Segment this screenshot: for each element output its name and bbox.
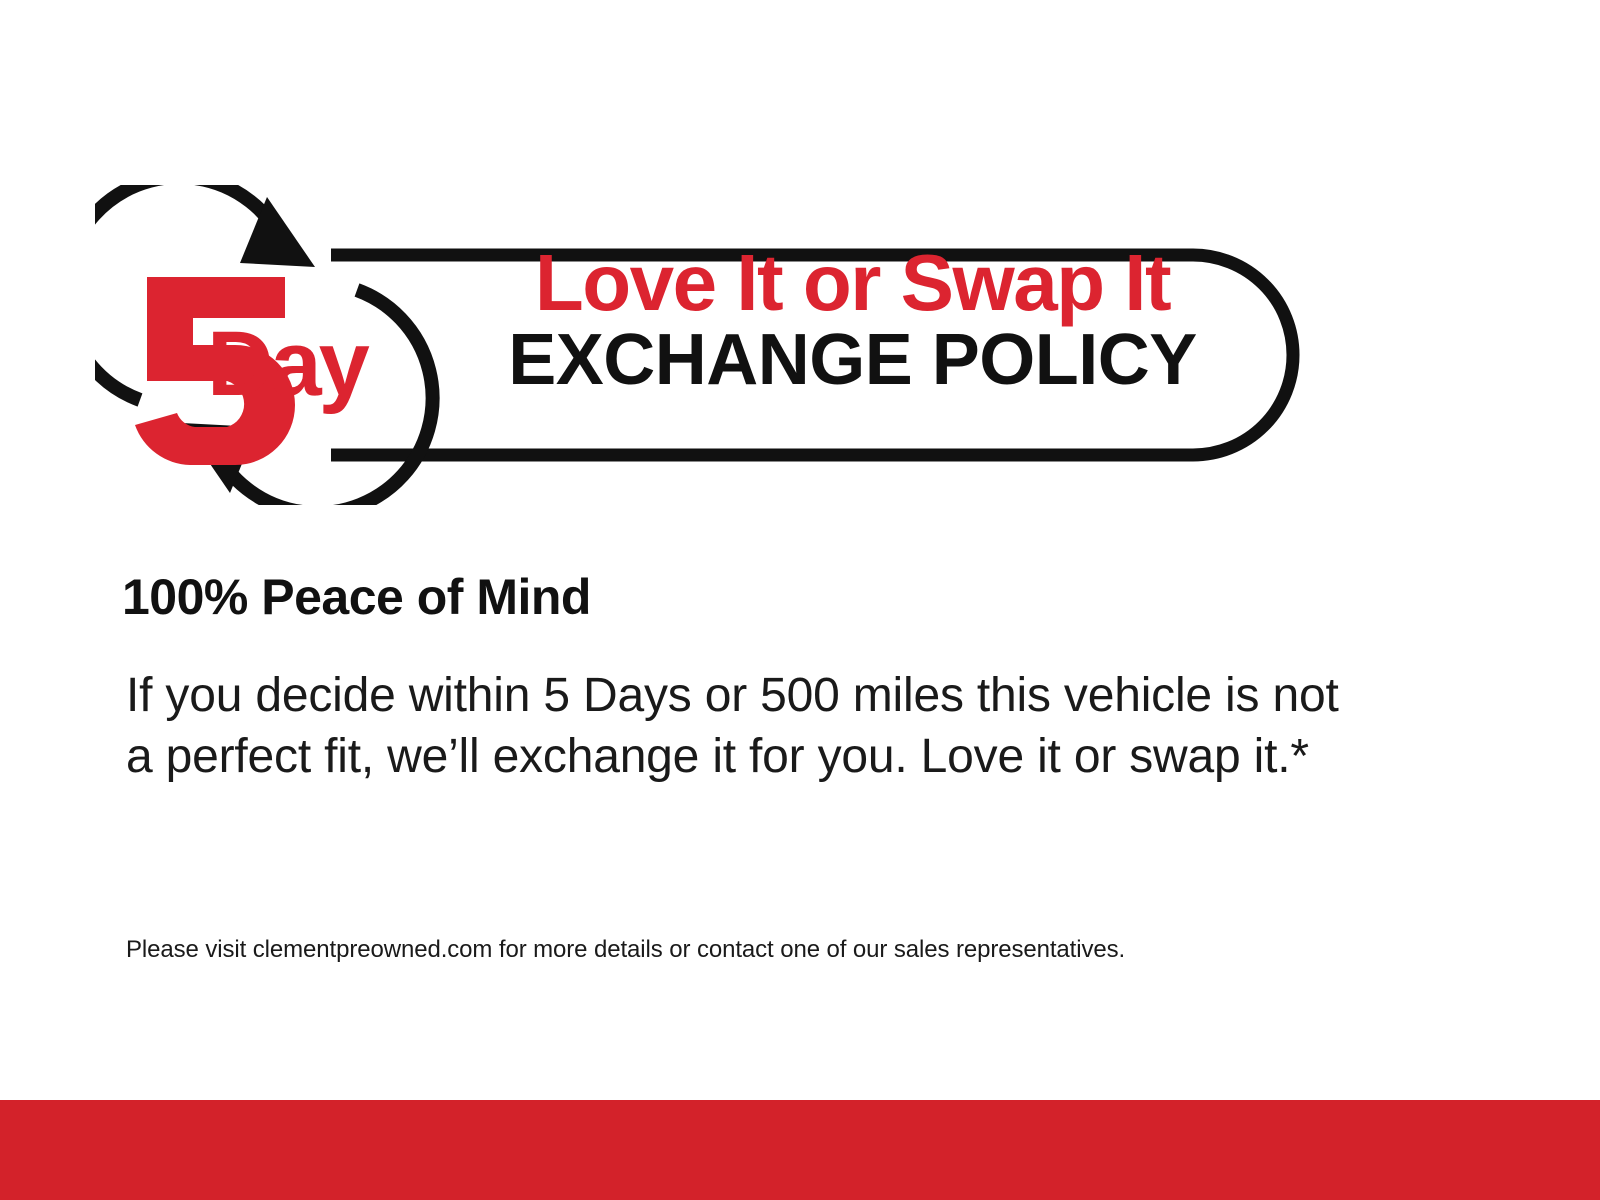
fine-print-disclaimer: Please visit clementpreowned.com for mor… bbox=[126, 936, 1125, 964]
footer-red-bar bbox=[0, 1100, 1600, 1200]
exchange-policy-logo-lockup: Day Love It or Swap It EXCHANGE POLICY bbox=[95, 185, 1310, 505]
logo-graphic: Day bbox=[95, 185, 1310, 505]
badge-unit-label: Day bbox=[207, 313, 370, 415]
pill-outline bbox=[331, 255, 1293, 455]
subheading-peace-of-mind: 100% Peace of Mind bbox=[122, 568, 591, 626]
policy-description-paragraph: If you decide within 5 Days or 500 miles… bbox=[126, 665, 1346, 788]
policy-banner: Day Love It or Swap It EXCHANGE POLICY 1… bbox=[0, 0, 1600, 1200]
